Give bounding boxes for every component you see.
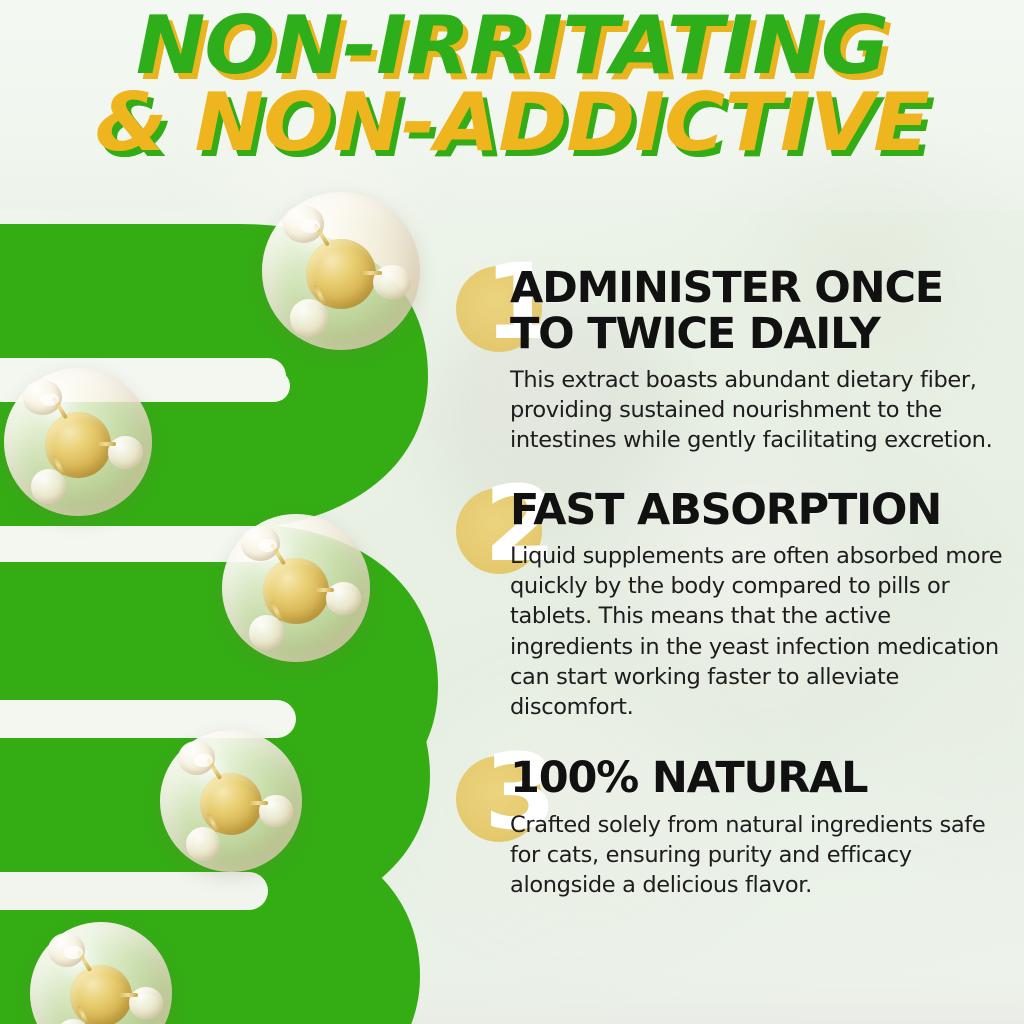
step-body-1: This extract boasts abundant dietary fib… [448, 365, 1014, 455]
title-line-2: & NON-ADDICTIVE [0, 85, 1024, 160]
capsule-droplet [129, 987, 163, 1018]
steps-list: 1 ADMINISTER ONCE TO TWICE DAILY This ex… [448, 232, 1014, 900]
capsule-droplet [108, 436, 144, 469]
capsule-droplet [326, 582, 362, 615]
golden-oil-capsule [4, 368, 152, 516]
capsule-highlight [194, 754, 212, 767]
step-item: 2 FAST ABSORPTION Liquid supplements are… [448, 488, 1014, 722]
golden-oil-capsule [160, 730, 302, 872]
green-serpentine-wave [0, 224, 450, 1024]
poster-title: NON-IRRITATING & NON-ADDICTIVE [0, 8, 1024, 160]
infographic-poster: NON-IRRITATING & NON-ADDICTIVE 1 ADMINIS… [0, 0, 1024, 1024]
step-heading-2: FAST ABSORPTION [448, 488, 1014, 534]
step-item: 1 ADMINISTER ONCE TO TWICE DAILY This ex… [448, 266, 1014, 456]
capsule-droplet [373, 265, 411, 300]
step-heading-1: ADMINISTER ONCE TO TWICE DAILY [448, 266, 1014, 357]
golden-oil-capsule [262, 192, 420, 350]
capsule-stem [314, 588, 335, 592]
capsule-droplet [259, 795, 293, 826]
step-body-3: Crafted solely from natural ingredients … [448, 810, 1014, 900]
golden-oil-capsule [222, 514, 370, 662]
step-body-2: Liquid supplements are often absorbed mo… [448, 541, 1014, 722]
capsule-stem [96, 442, 117, 446]
title-line-1: NON-IRRITATING [0, 8, 1024, 83]
step-heading-3: 100% NATURAL [448, 756, 1014, 802]
step-item: 3 100% NATURAL Crafted solely from natur… [448, 756, 1014, 900]
capsule-stem [118, 993, 138, 997]
capsule-highlight [64, 946, 82, 959]
capsule-stem [248, 801, 268, 805]
capsule-stem [360, 271, 382, 275]
